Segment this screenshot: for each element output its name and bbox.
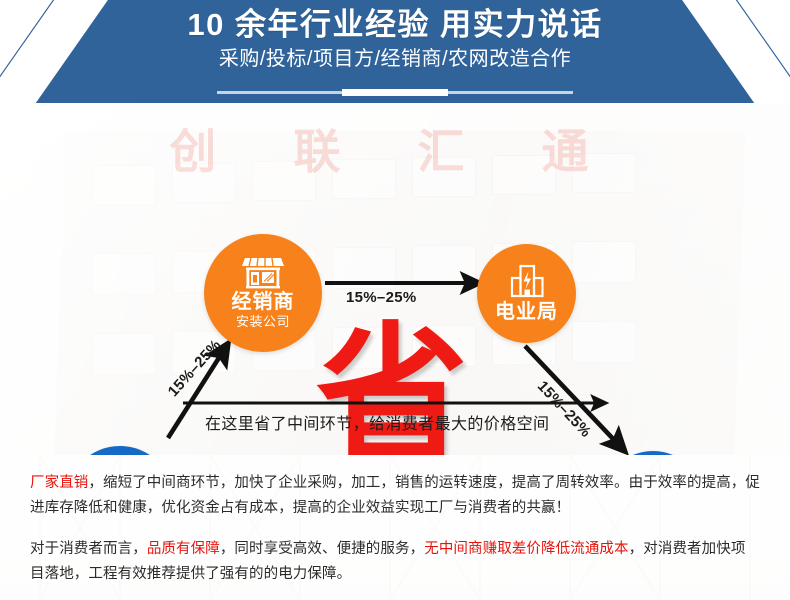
header-content: 10 余年行业经验 用实力说话 采购/投标/项目方/经销商/农网改造合作 bbox=[0, 0, 790, 103]
node-dealer[interactable]: 经销商 安装公司 bbox=[204, 234, 322, 352]
page-title: 10 余年行业经验 用实力说话 bbox=[187, 6, 602, 45]
storefront-icon bbox=[241, 256, 285, 289]
node-dealer-sublabel: 安装公司 bbox=[236, 315, 290, 329]
flow-diagram: 创 联 汇 通 省 15%–25% 15%–25% 15%–25% 在这里省了中… bbox=[0, 103, 790, 455]
description-paragraph-2: 对于消费者而言，品质有保障，同时享受高效、便捷的服务，无中间商赚取差价降低流通成… bbox=[0, 521, 790, 587]
description-paragraph-1: 厂家直销，缩短了中间商环节，加快了企业采购，加工，销售的运转速度，提高了周转效率… bbox=[0, 455, 790, 521]
header-divider bbox=[217, 91, 573, 94]
node-power-bureau-label: 电业局 bbox=[495, 302, 558, 323]
node-power-bureau[interactable]: 电业局 bbox=[477, 244, 576, 343]
description-paragraph-1-body: ，缩短了中间商环节，加快了企业采购，加工，销售的运转速度，提高了周转效率。由于效… bbox=[30, 475, 760, 516]
arrow-label-dealer-to-bureau: 15%–25% bbox=[346, 289, 417, 306]
power-building-icon bbox=[509, 264, 545, 298]
brand-watermark: 创 联 汇 通 bbox=[0, 113, 790, 182]
center-save-glyph: 省 bbox=[316, 321, 468, 455]
description-section: 厂家直销，缩短了中间商环节，加快了企业采购，加工，销售的运转速度，提高了周转效率… bbox=[0, 455, 790, 600]
description-paragraph-2-part-1: 对于消费者而言， bbox=[30, 541, 147, 557]
arrow-label-factory-to-consumer: 在这里省了中间环节，给消费者最大的价格空间 bbox=[205, 410, 549, 434]
page-subtitle: 采购/投标/项目方/经销商/农网改造合作 bbox=[219, 46, 571, 72]
description-highlight-no-middleman: 无中间商赚取差价降低流通成本 bbox=[424, 541, 628, 557]
promo-banner-page: 10 余年行业经验 用实力说话 采购/投标/项目方/经销商/农网改造合作 创 联… bbox=[0, 0, 790, 600]
description-highlight-direct-sales: 厂家直销 bbox=[30, 475, 88, 491]
page-header: 10 余年行业经验 用实力说话 采购/投标/项目方/经销商/农网改造合作 bbox=[0, 0, 790, 103]
node-dealer-label: 经销商 bbox=[232, 292, 295, 313]
description-paragraph-2-part-2: ，同时享受高效、便捷的服务， bbox=[220, 541, 424, 557]
description-highlight-quality: 品质有保障 bbox=[147, 541, 220, 557]
